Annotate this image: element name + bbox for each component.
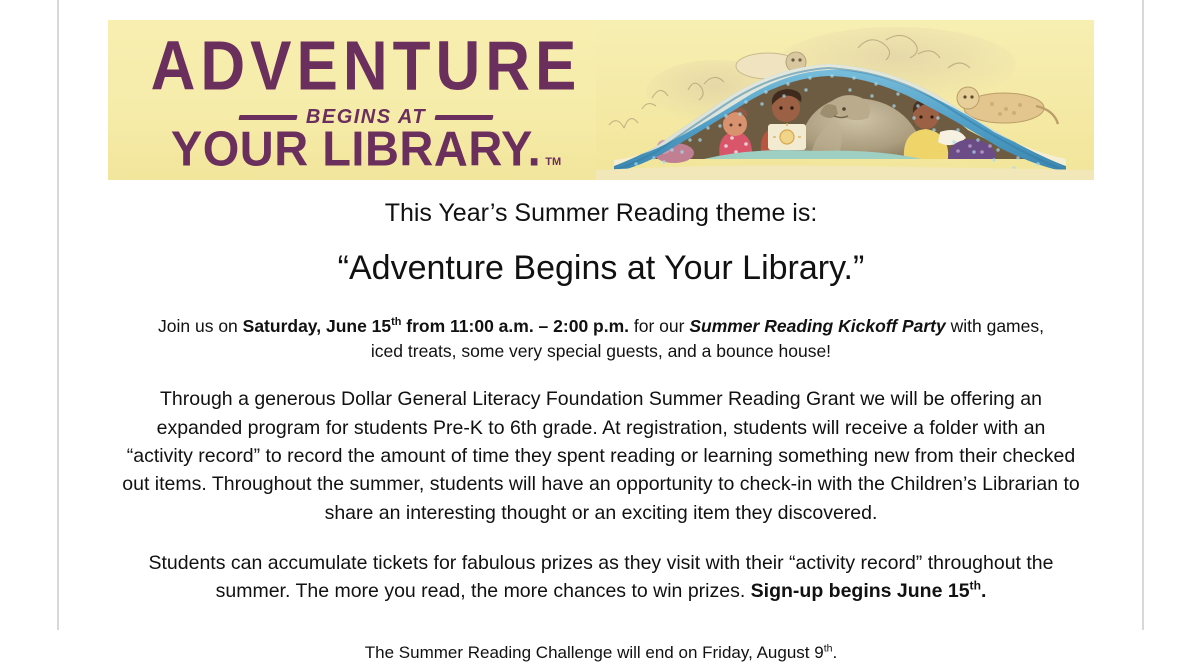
- kickoff-time: from 11:00 a.m. – 2:00 p.m.: [401, 316, 629, 336]
- signup-bold: Sign-up begins June 15th.: [751, 580, 987, 602]
- kickoff-event-name: Summer Reading Kickoff Party: [689, 316, 945, 336]
- trademark-icon: TM: [545, 156, 561, 168]
- kickoff-date: Saturday, June 15: [243, 316, 392, 336]
- signup-text: Sign-up begins June 15: [751, 580, 970, 602]
- adventure-begins-at-your-library-logo: ADVENTURE BEGINS AT YOUR LIBRARY. TM: [126, 24, 606, 176]
- logo-your-library-text: YOUR LIBRARY.: [171, 124, 541, 173]
- flyer-body: This Year’s Summer Reading theme is: “Ad…: [108, 188, 1094, 665]
- signup-period: .: [981, 580, 986, 602]
- kickoff-text-part2: for our: [629, 316, 689, 336]
- closing-text-part2: .: [833, 643, 838, 662]
- logo-line-your-library: YOUR LIBRARY. TM: [126, 126, 606, 173]
- prizes-paragraph: Students can accumulate tickets for fabu…: [122, 549, 1080, 606]
- page-edge-rule-left: [57, 0, 59, 630]
- closing-line: The Summer Reading Challenge will end on…: [108, 641, 1094, 665]
- logo-dash-right-icon: [435, 115, 494, 120]
- closing-text-part1: The Summer Reading Challenge will end on…: [365, 643, 824, 662]
- program-details-paragraph: Through a generous Dollar General Litera…: [122, 385, 1080, 526]
- kickoff-date-bold: Saturday, June 15th from 11:00 a.m. – 2:…: [243, 316, 629, 336]
- page-title: “Adventure Begins at Your Library.”: [108, 247, 1094, 290]
- blanket-tent-illustration-svg: [596, 20, 1094, 180]
- logo-dash-left-icon: [238, 115, 297, 120]
- theme-intro-line: This Year’s Summer Reading theme is:: [108, 198, 1094, 229]
- signup-date-ordinal: th: [970, 579, 981, 593]
- closing-date-ordinal: th: [824, 643, 833, 655]
- page-edge-rule-right: [1142, 0, 1144, 630]
- kickoff-date-ordinal: th: [391, 316, 401, 328]
- kickoff-paragraph: Join us on Saturday, June 15th from 11:0…: [144, 314, 1058, 364]
- kickoff-text-part1: Join us on: [158, 316, 243, 336]
- summer-reading-banner: ADVENTURE BEGINS AT YOUR LIBRARY. TM: [108, 20, 1094, 180]
- logo-line-adventure: ADVENTURE: [126, 30, 606, 103]
- banner-illustration: [596, 20, 1094, 180]
